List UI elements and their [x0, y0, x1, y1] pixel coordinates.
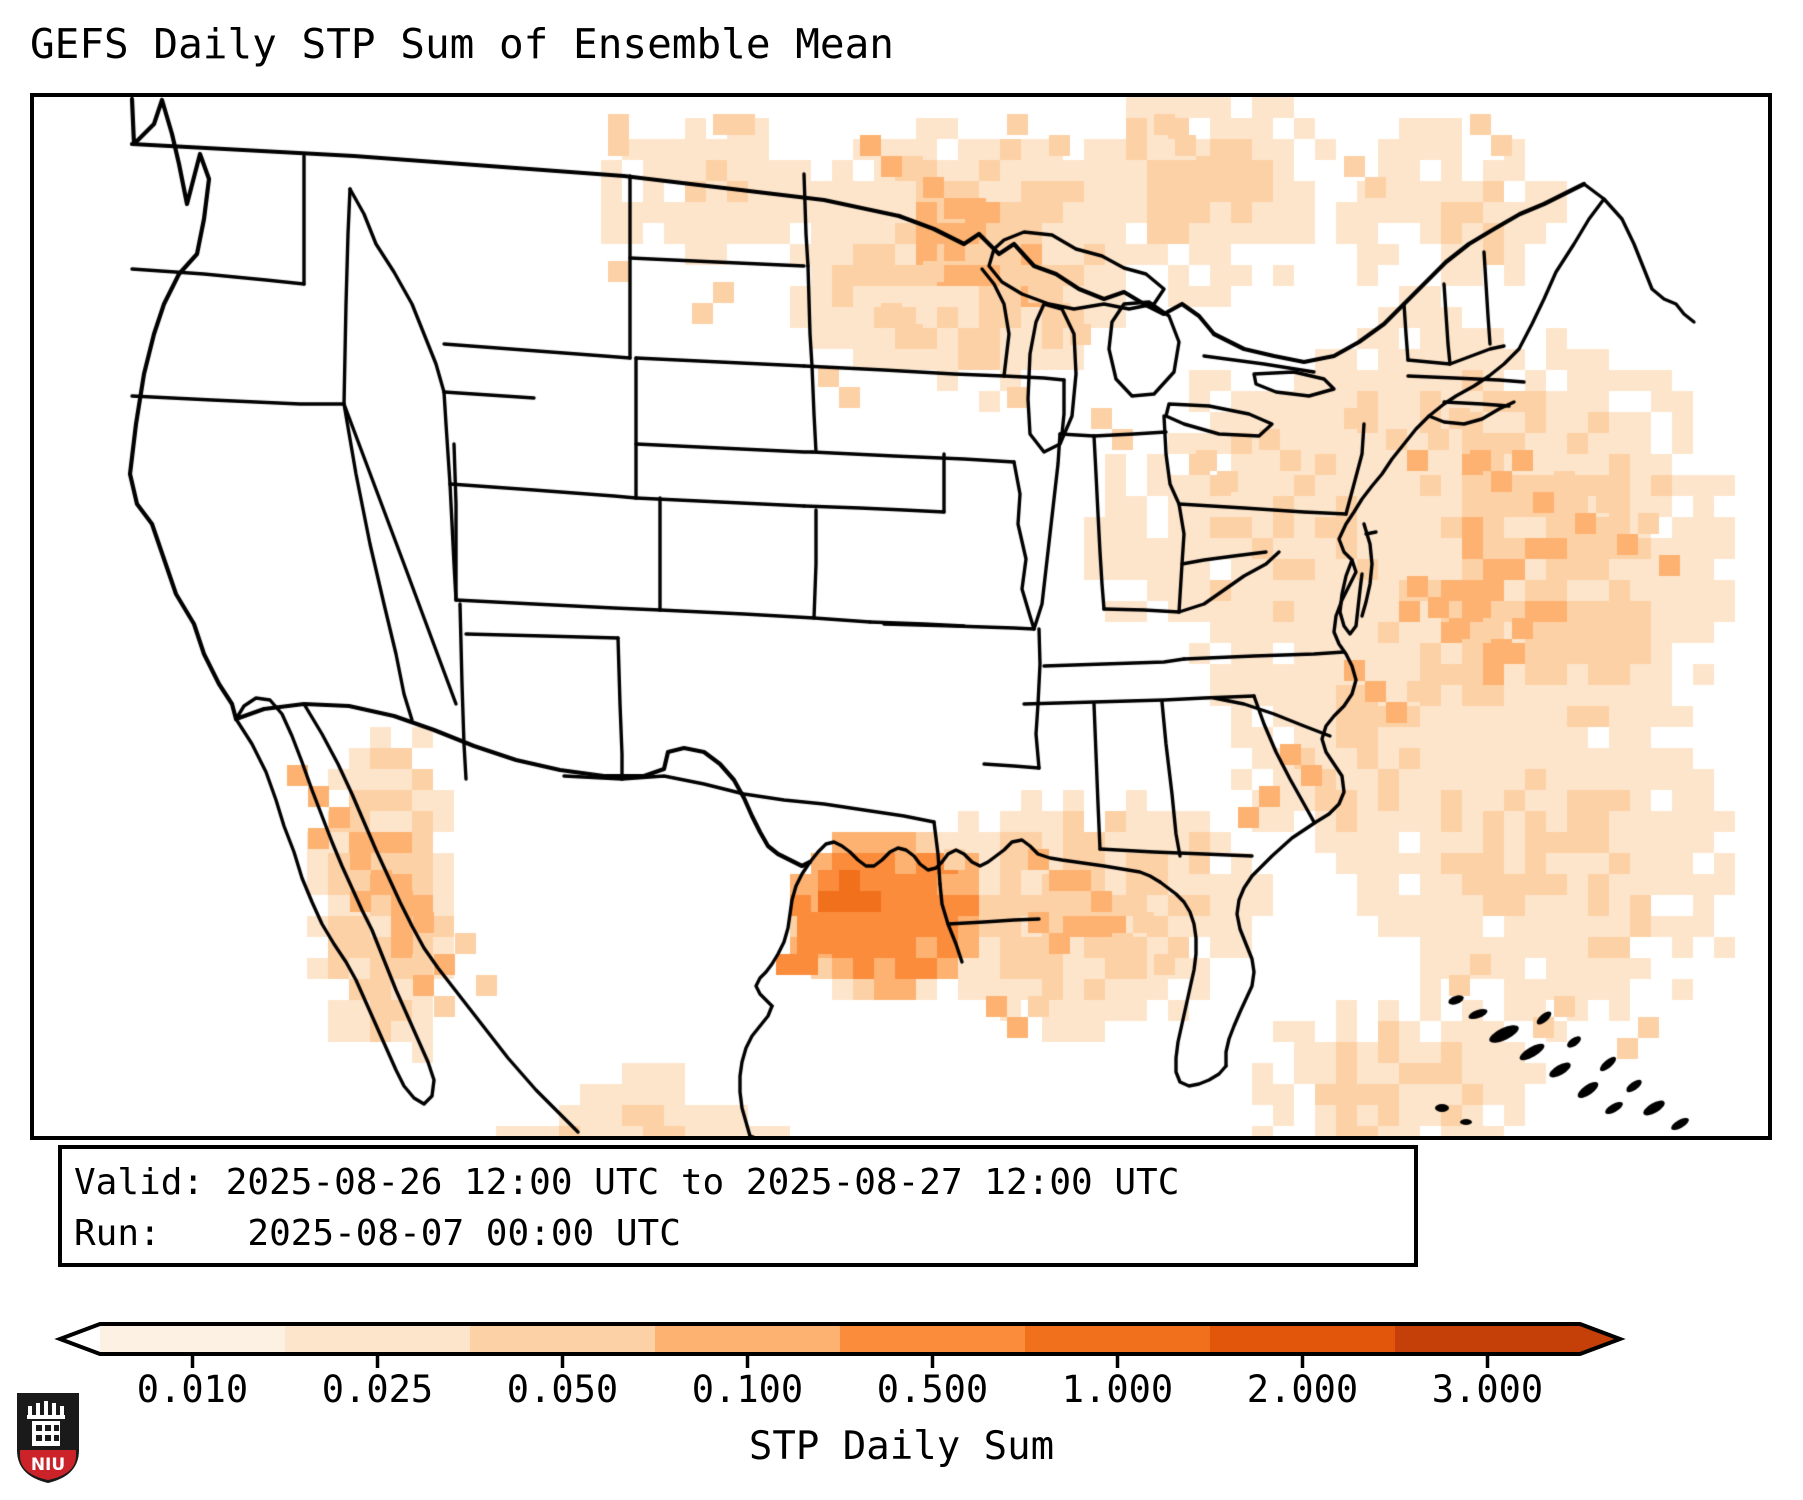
colorbar-tick-label-5: 1.000 [1062, 1368, 1173, 1411]
valid-time-line: Valid: 2025-08-26 12:00 UTC to 2025-08-2… [74, 1157, 1414, 1208]
colorbar-over-arrow [1580, 1324, 1620, 1354]
colorbar-tick-label-4: 0.500 [877, 1368, 988, 1411]
colorbar-tick-label-0: 0.010 [137, 1368, 248, 1411]
colorbar-under-arrow [60, 1324, 100, 1354]
colorbar-segment-0 [100, 1324, 286, 1354]
colorbar-axis-label: STP Daily Sum [0, 1424, 1803, 1469]
colorbar-segment-6 [1210, 1324, 1396, 1354]
colorbar-segment-7 [1395, 1324, 1581, 1354]
colorbar-segment-3 [655, 1324, 841, 1354]
logo-text: NIU [31, 1455, 65, 1475]
colorbar-segment-1 [285, 1324, 471, 1354]
colorbar-tick-label-3: 0.100 [692, 1368, 803, 1411]
colorbar-tick-label-7: 3.000 [1432, 1368, 1543, 1411]
colorbar-tick-label-2: 0.050 [507, 1368, 618, 1411]
colorbar-tick-label-6: 2.000 [1247, 1368, 1358, 1411]
forecast-info-box: Valid: 2025-08-26 12:00 UTC to 2025-08-2… [58, 1145, 1418, 1267]
niu-logo-svg: NIU [14, 1390, 82, 1485]
niu-logo: NIU [14, 1390, 82, 1485]
colorbar-tick-label-1: 0.025 [322, 1368, 433, 1411]
map-outlines-layer [34, 97, 1768, 1136]
colorbar[interactable] [0, 1310, 1803, 1370]
colorbar-segment-5 [1025, 1324, 1211, 1354]
colorbar-segment-4 [840, 1324, 1026, 1354]
colorbar-tick-labels: 0.0100.0250.0500.1000.5001.0002.0003.000 [0, 1368, 1803, 1420]
colorbar-svg [0, 1310, 1803, 1370]
run-time-line: Run: 2025-08-07 00:00 UTC [74, 1208, 1414, 1259]
colorbar-segments [60, 1324, 1620, 1354]
colorbar-ticks [193, 1354, 1488, 1368]
map-panel[interactable] [30, 93, 1772, 1140]
colorbar-segment-2 [470, 1324, 656, 1354]
page-title: GEFS Daily STP Sum of Ensemble Mean [30, 20, 894, 68]
